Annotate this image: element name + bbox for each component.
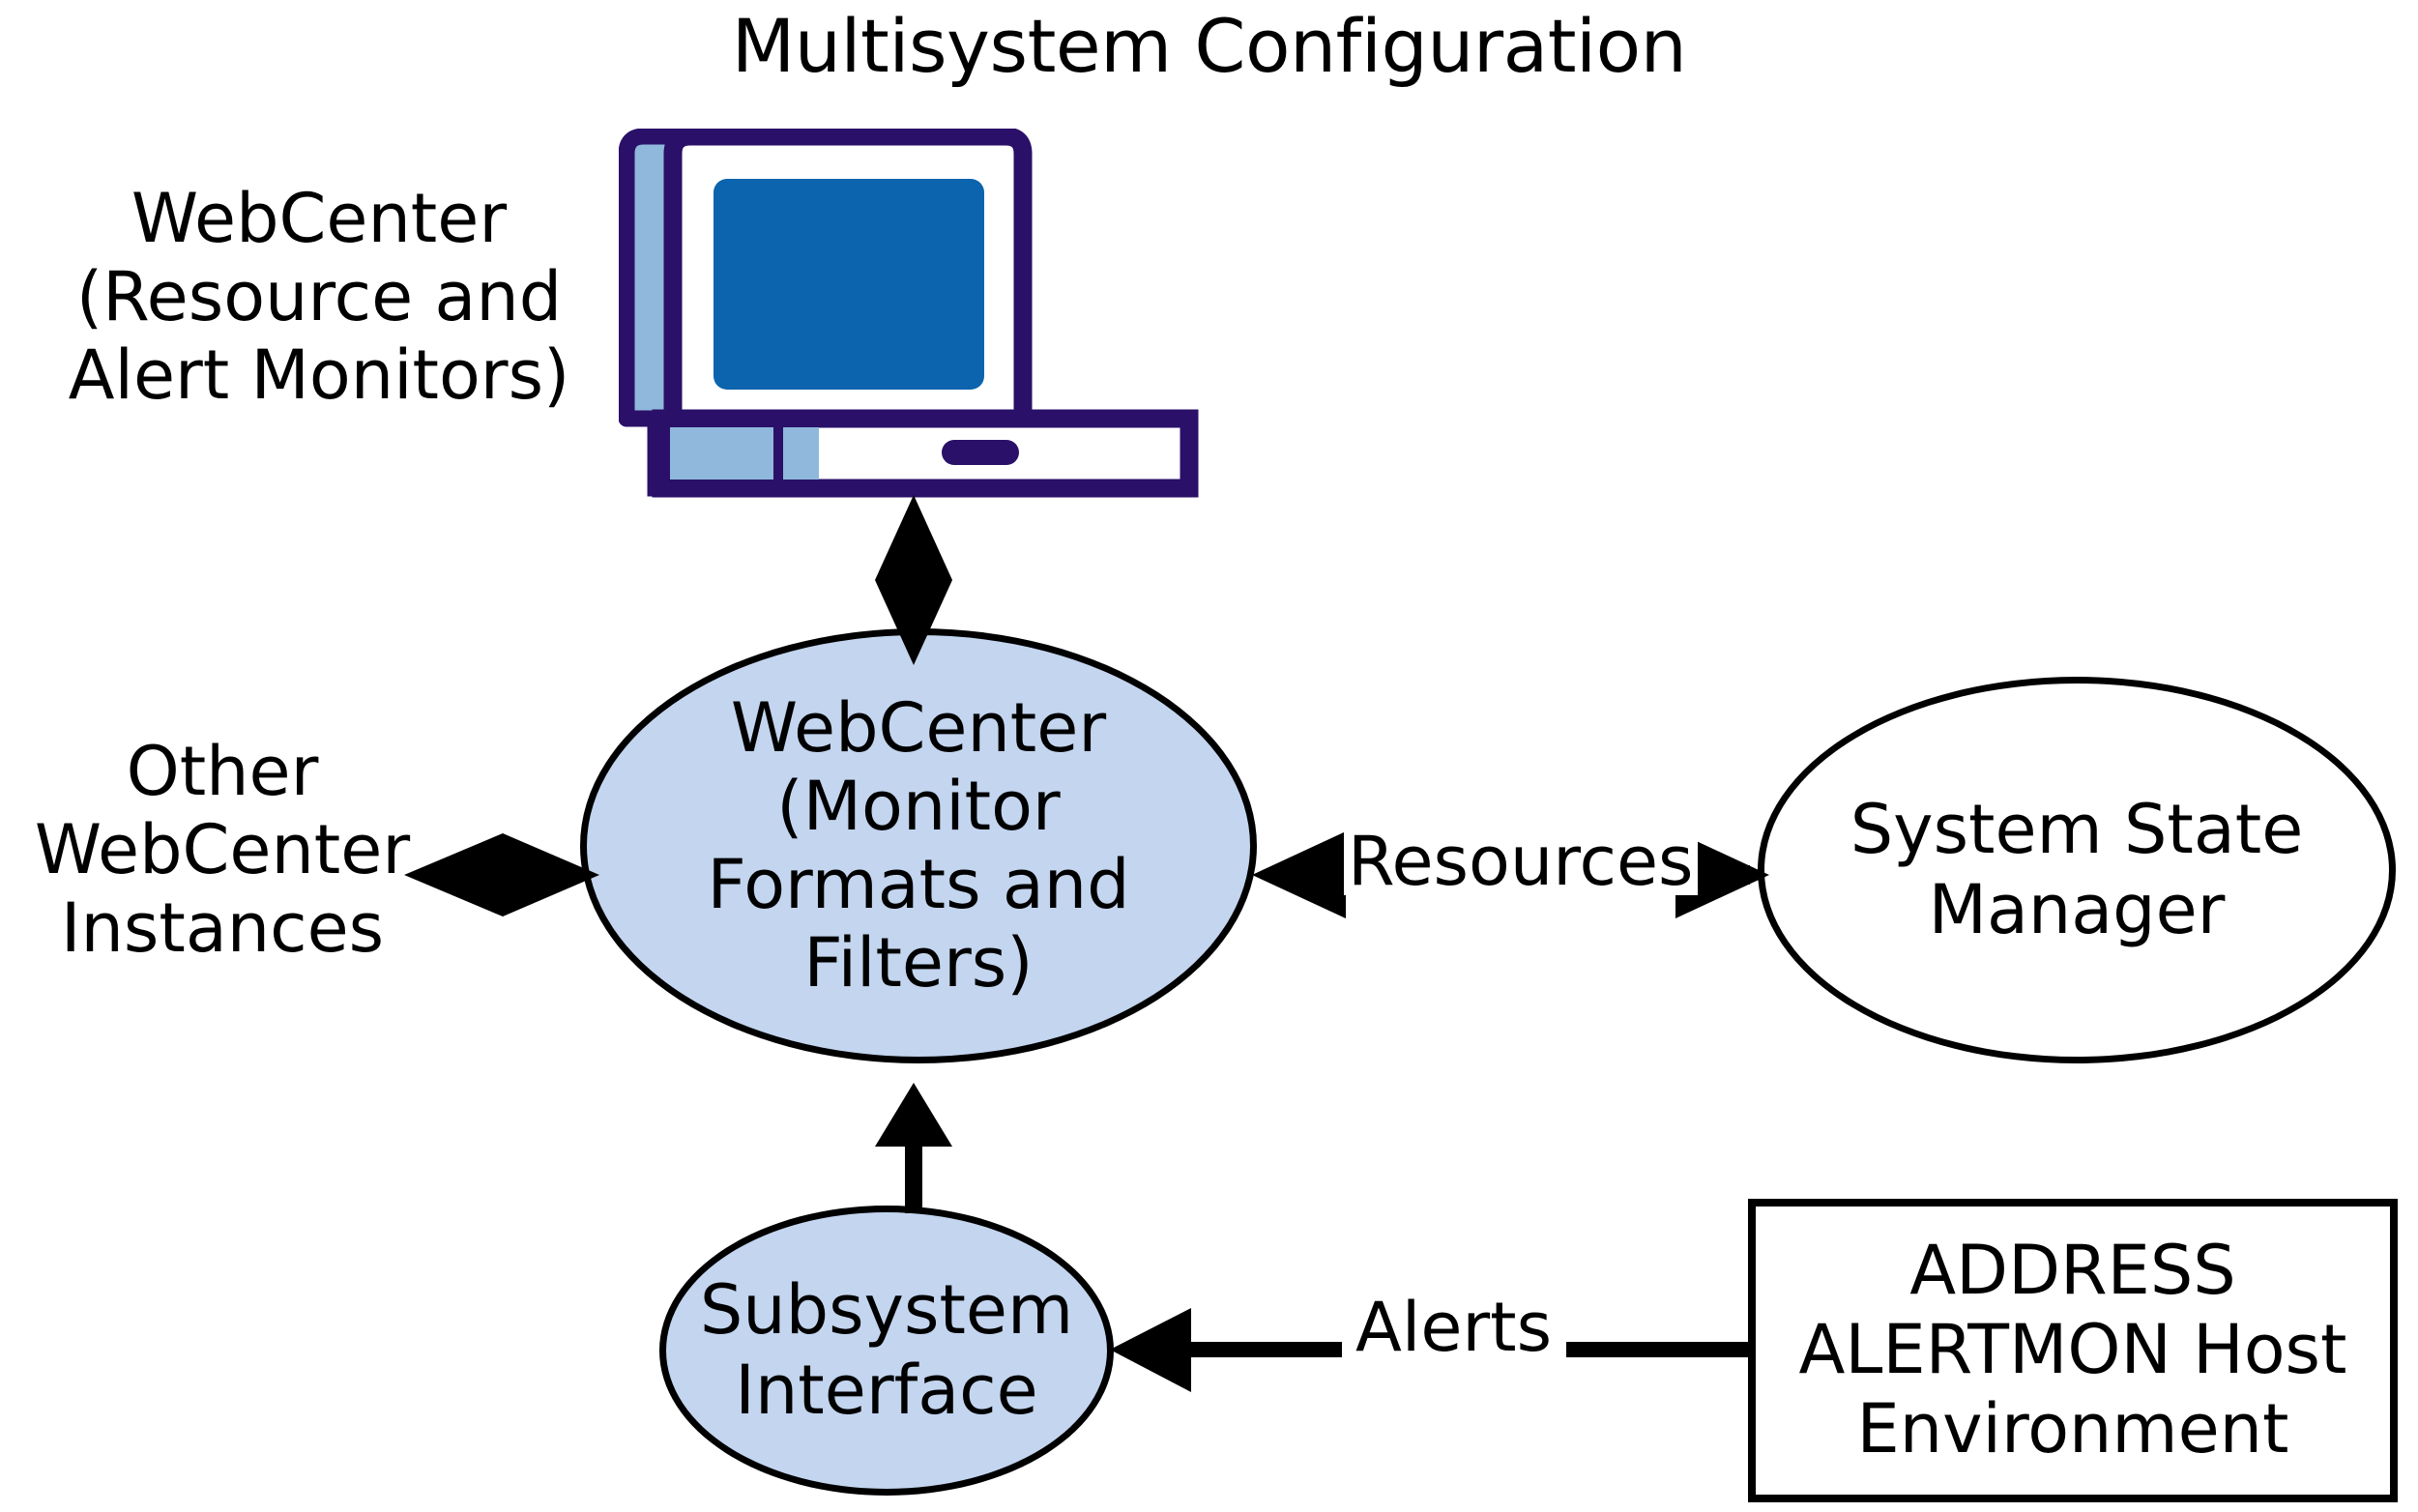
node-label-line: System State (1764, 790, 2389, 870)
label-line: Instances (29, 889, 416, 968)
node-label: ADDRESS ALERTMON Host Environment (1756, 1232, 2390, 1469)
edge-label-alerts: Alerts (1352, 1294, 1556, 1361)
node-label: WebCenter (Monitor Formats and Filters) (587, 689, 1250, 1003)
node-address-alertmon-host-environment[interactable]: ADDRESS ALERTMON Host Environment (1748, 1199, 2398, 1502)
node-label: System State Manager (1764, 790, 2389, 949)
node-label-line: Interface (666, 1351, 1107, 1431)
label-other-webcenter-instances: Other WebCenter Instances (29, 733, 416, 969)
node-label: Subsystem Interface (666, 1270, 1107, 1430)
diagram-canvas: Multisystem Configuration WebCenter (Res… (0, 0, 2418, 1512)
page-title: Multisystem Configuration (0, 8, 2418, 85)
node-webcenter-monitor-formats-filters[interactable]: WebCenter (Monitor Formats and Filters) (580, 628, 1257, 1063)
node-subsystem-interface[interactable]: Subsystem Interface (659, 1206, 1114, 1496)
node-label-line: ALERTMON Host (1756, 1311, 2390, 1390)
arrow-other-webcenter-instances (404, 833, 599, 916)
node-label-line: WebCenter (587, 689, 1250, 768)
label-line: (Resource and (19, 258, 619, 336)
arrow-subsystem-to-webcenter (875, 1083, 952, 1213)
node-label-line: ADDRESS (1756, 1232, 2390, 1311)
node-label-line: Filters) (587, 924, 1250, 1003)
node-label-line: (Monitor (587, 768, 1250, 846)
node-label-line: Formats and (587, 846, 1250, 924)
label-line: Alert Monitors) (19, 336, 619, 415)
edge-label-resources: Resources (1344, 828, 1698, 895)
node-label-line: Manager (1764, 870, 2389, 950)
label-line: WebCenter (29, 811, 416, 889)
label-webcenter-resource-alert-monitors: WebCenter (Resource and Alert Monitors) (19, 180, 619, 416)
label-line: WebCenter (19, 180, 619, 258)
node-label-line: Environment (1756, 1390, 2390, 1469)
computer-monitor-icon (619, 129, 1199, 508)
node-label-line: Subsystem (666, 1270, 1107, 1351)
node-system-state-manager[interactable]: System State Manager (1758, 677, 2396, 1063)
label-line: Other (29, 733, 416, 811)
